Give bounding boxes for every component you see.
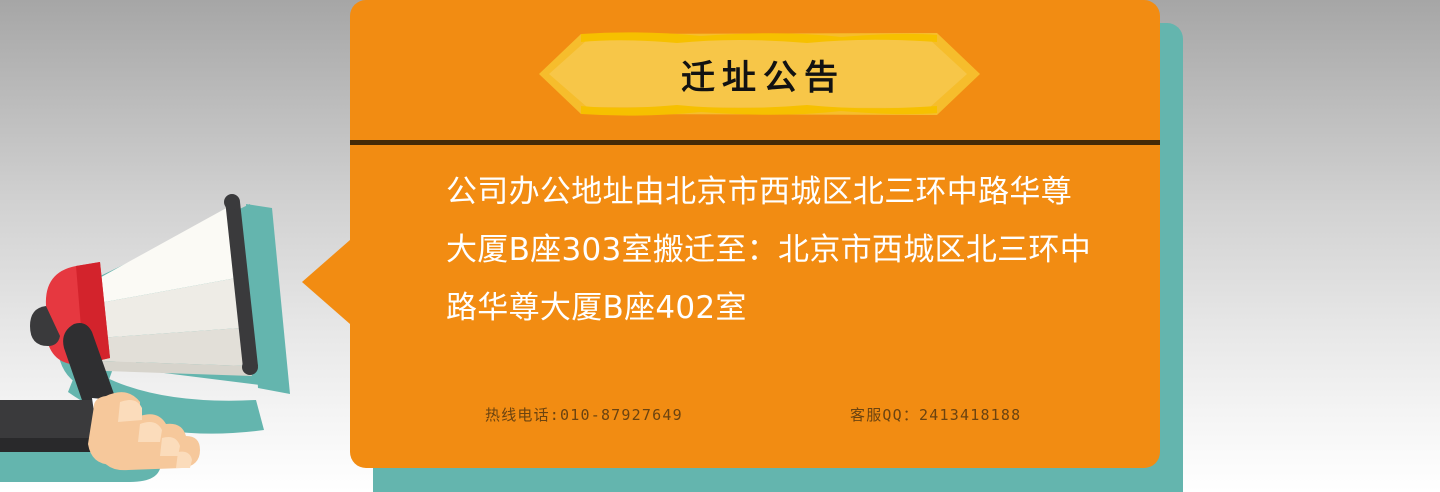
footer: 热线电话:010-87927649 客服QQ：2413418188 [350, 404, 1160, 438]
divider [350, 140, 1160, 145]
announcement-card: 迁址公告 公司办公地址由北京市西城区北三环中路华尊大厦B座303室搬迁至：北京市… [350, 0, 1160, 468]
speech-bubble-tail [296, 226, 366, 338]
poster-root: 迁址公告 公司办公地址由北京市西城区北三环中路华尊大厦B座303室搬迁至：北京市… [0, 0, 1440, 492]
page-title: 迁址公告 [537, 31, 982, 117]
customer-service-qq-label: 客服QQ：2413418188 [850, 404, 1021, 425]
announcement-body-text: 公司办公地址由北京市西城区北三环中路华尊大厦B座303室搬迁至：北京市西城区北三… [446, 163, 1096, 337]
banner: 迁址公告 [537, 31, 982, 117]
hotline-phone-label: 热线电话:010-87927649 [485, 404, 683, 425]
